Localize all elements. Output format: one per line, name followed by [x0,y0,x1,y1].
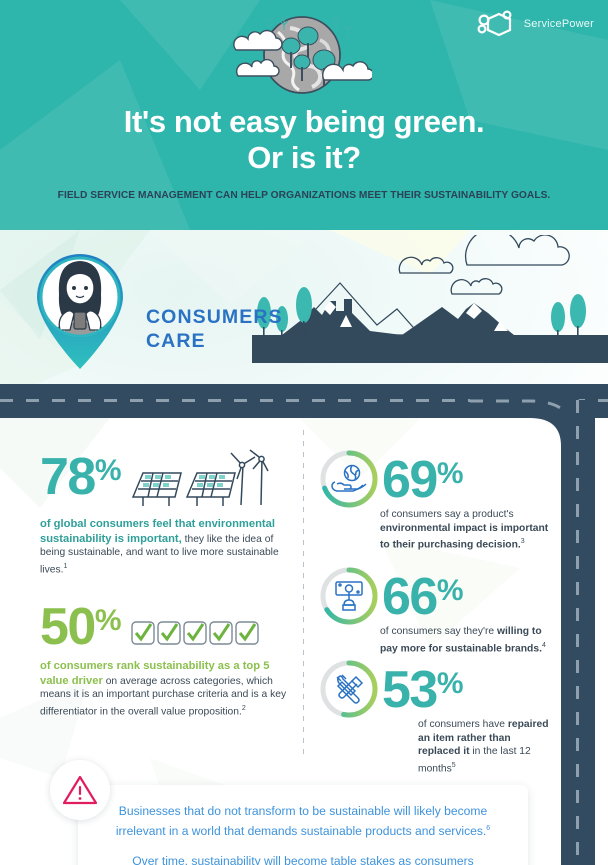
stat-card-69: 69% [318,448,548,510]
callout-paragraph-1: Businesses that do not transform to be s… [108,803,498,840]
warning-badge [50,760,110,820]
stat-caption-69: of consumers say a product's environment… [380,508,550,552]
hand-holding-globe-icon [332,466,366,492]
stat-pre-69: of consumers say a product's [380,509,514,520]
stat-card-50: 50% of consumers rank sustainability as … [40,595,290,719]
stat-pre-53: of consumers have [418,719,508,730]
progress-ring-66 [318,565,380,627]
globe-with-trees-and-clouds-illustration [232,10,372,102]
mountain-scene [252,235,608,400]
header-banner: ServicePower [0,0,608,230]
stat-footnote-53: 5 [452,762,456,769]
infographic-page: ServicePower [0,0,608,865]
stat-footnote-50: 2 [242,705,246,712]
servicepower-logo[interactable]: ServicePower [477,10,594,38]
progress-ring-53 [318,658,380,720]
stat-footnote-78: 1 [63,563,67,570]
section-title-line-1: CONSUMERS [146,306,283,328]
callout-footnote: 6 [486,825,490,832]
stat-footnote-66: 4 [542,642,546,649]
solar-panels-and-wind-turbines-icon [129,447,269,509]
warning-triangle-icon [63,775,97,805]
stat-pre-66: of consumers say they're [380,626,497,637]
stat-value-50: 50% [40,595,121,653]
molecule-hexagon-icon [477,10,519,38]
callout-card: Businesses that do not transform to be s… [78,785,528,865]
stat-caption-53: of consumers have repaired an item rathe… [418,718,553,776]
stat-footnote-69: 3 [521,538,525,545]
stat-value-wrap-53: 53% [382,658,463,716]
title-line-2: Or is it? [0,140,608,176]
progress-ring-69 [318,448,380,510]
road-dash-line-vertical [576,400,579,865]
stat-value-53: 53% [382,658,463,716]
stat-card-66: 66% [318,565,548,627]
column-divider [303,430,304,755]
section-title-line-2: CARE [146,330,206,352]
avatar [33,250,127,390]
section-title-consumers-care: CONSUMERS CARE [146,305,283,353]
stat-card-53: 53% [318,658,548,720]
hand-holding-money-icon [336,582,362,610]
wrench-and-hammer-tools-icon [337,675,362,703]
stat-bold-69: environmental impact is important to the… [380,523,548,551]
callout-paragraph-1-text: Businesses that do not transform to be s… [116,804,487,838]
callout-paragraph-2: Over time, sustainability will become ta… [108,853,498,865]
stat-value-wrap-66: 66% [382,565,463,623]
stat-card-78: 78% [40,445,290,577]
five-green-checkmark-boxes-icon [131,619,261,653]
stat-caption-66: of consumers say they're willing to pay … [380,625,555,656]
logo-wordmark: ServicePower [524,18,594,30]
stat-value-wrap-69: 69% [382,448,463,506]
title-line-1: It's not easy being green. [124,104,484,139]
vertical-road [561,400,595,865]
page-subtitle: FIELD SERVICE MANAGEMENT CAN HELP ORGANI… [0,190,608,201]
stat-value-69: 69% [382,448,463,506]
page-title: It's not easy being green. Or is it? [0,104,608,176]
woman-with-phone-map-pin-avatar [33,250,127,390]
stat-value-66: 66% [382,565,463,623]
stat-value-78: 78% [40,445,121,503]
